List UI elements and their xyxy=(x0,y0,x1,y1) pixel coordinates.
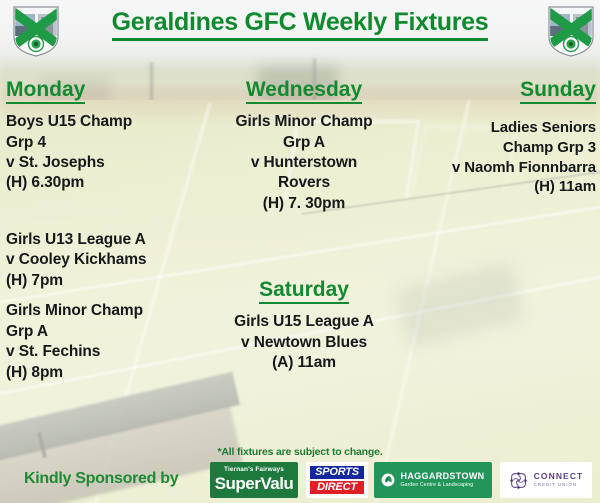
haggardstown-wordmark: HAGGARDSTOWN xyxy=(400,472,484,481)
page-title: Geraldines GFC Weekly Fixtures xyxy=(0,8,600,41)
day-heading-wednesday: Wednesday xyxy=(198,78,410,104)
supervalu-store-name: Tiernan's Fairways xyxy=(224,467,284,474)
sports-direct-line-2: DIRECT xyxy=(310,481,364,494)
fixture-line: v St. Fechins xyxy=(6,342,192,362)
fixture-line: Grp A xyxy=(6,322,192,342)
fixture-line: (H) 8pm xyxy=(6,363,192,383)
fixture-line: v St. Josephs xyxy=(6,153,192,173)
fixture-item: Girls Minor Champ Grp A v Hunterstown Ro… xyxy=(198,112,410,214)
fixture-line: Boys U15 Champ xyxy=(6,112,192,132)
fixture-item: Girls Minor Champ Grp A v St. Fechins (H… xyxy=(6,301,192,383)
leaf-icon xyxy=(381,473,395,487)
fixture-line: Girls U15 League A xyxy=(198,312,410,332)
day-heading-sunday: Sunday xyxy=(412,78,596,104)
poster-header: Geraldines GFC Weekly Fixtures xyxy=(0,0,600,62)
fixture-line: (H) 6.30pm xyxy=(6,173,192,193)
day-column-sunday: Sunday Ladies Seniors Champ Grp 3 v Naom… xyxy=(412,78,596,199)
day-column-wednesday: Wednesday Girls Minor Champ Grp A v Hunt… xyxy=(198,78,410,216)
haggardstown-tagline: Garden Centre & Landscaping xyxy=(400,482,484,488)
day-heading-saturday: Saturday xyxy=(198,278,410,304)
fixture-item: Girls U15 League A v Newtown Blues (A) 1… xyxy=(198,312,410,373)
fixture-item: Ladies Seniors Champ Grp 3 v Naomh Fionn… xyxy=(412,118,596,197)
fixture-line: Grp 4 xyxy=(6,133,192,153)
fixture-line: Rovers xyxy=(198,173,410,193)
day-heading-monday: Monday xyxy=(6,78,192,104)
fixture-line: (H) 7. 30pm xyxy=(198,194,410,214)
club-crest-right-icon xyxy=(545,4,597,58)
sponsored-by-label: Kindly Sponsored by xyxy=(24,470,178,488)
disclaimer-text: *All fixtures are subject to change. xyxy=(0,446,600,458)
fixture-line: Ladies Seniors xyxy=(412,118,596,138)
fixture-line: Girls Minor Champ xyxy=(198,112,410,132)
fixture-line: (H) 11am xyxy=(412,177,596,197)
connect-text: CONNECT CREDIT UNION xyxy=(534,472,584,487)
fixture-line: Girls Minor Champ xyxy=(6,301,192,321)
fixture-line: (H) 7pm xyxy=(6,271,192,291)
fixture-line: v Newtown Blues xyxy=(198,333,410,353)
connect-tagline: CREDIT UNION xyxy=(534,483,584,488)
connect-mark-icon xyxy=(509,471,528,490)
fixture-line: v Hunterstown xyxy=(198,153,410,173)
day-column-saturday: Saturday Girls U15 League A v Newtown Bl… xyxy=(198,278,410,375)
fixtures-poster: Geraldines GFC Weekly Fixtures xyxy=(0,0,600,503)
sponsor-logo-sports-direct[interactable]: SPORTS DIRECT xyxy=(306,462,368,498)
connect-wordmark: CONNECT xyxy=(534,472,584,481)
fixture-line: Girls U13 League A xyxy=(6,230,192,250)
sponsor-logo-supervalu[interactable]: Tiernan's Fairways SuperValu xyxy=(210,462,298,498)
fixture-line: v Naomh Fionnbarra xyxy=(412,158,596,178)
fixture-line: Champ Grp 3 xyxy=(412,138,596,158)
day-column-monday: Monday Boys U15 Champ Grp 4 v St. Joseph… xyxy=(6,78,192,385)
page-title-text: Geraldines GFC Weekly Fixtures xyxy=(112,8,489,41)
sponsor-logos: Tiernan's Fairways SuperValu SPORTS DIRE… xyxy=(210,462,590,500)
haggardstown-text: HAGGARDSTOWN Garden Centre & Landscaping xyxy=(400,472,484,489)
fixture-item: Boys U15 Champ Grp 4 v St. Josephs (H) 6… xyxy=(6,112,192,194)
sponsor-logo-connect-credit-union[interactable]: CONNECT CREDIT UNION xyxy=(500,462,592,498)
sponsor-logo-haggardstown[interactable]: HAGGARDSTOWN Garden Centre & Landscaping xyxy=(374,462,492,498)
fixture-line: v Cooley Kickhams xyxy=(6,250,192,270)
fixture-line: Grp A xyxy=(198,133,410,153)
supervalu-wordmark: SuperValu xyxy=(215,475,294,493)
fixture-item: Girls U13 League A v Cooley Kickhams (H)… xyxy=(6,230,192,291)
sports-direct-line-1: SPORTS xyxy=(310,466,364,479)
fixture-line: (A) 11am xyxy=(198,353,410,373)
